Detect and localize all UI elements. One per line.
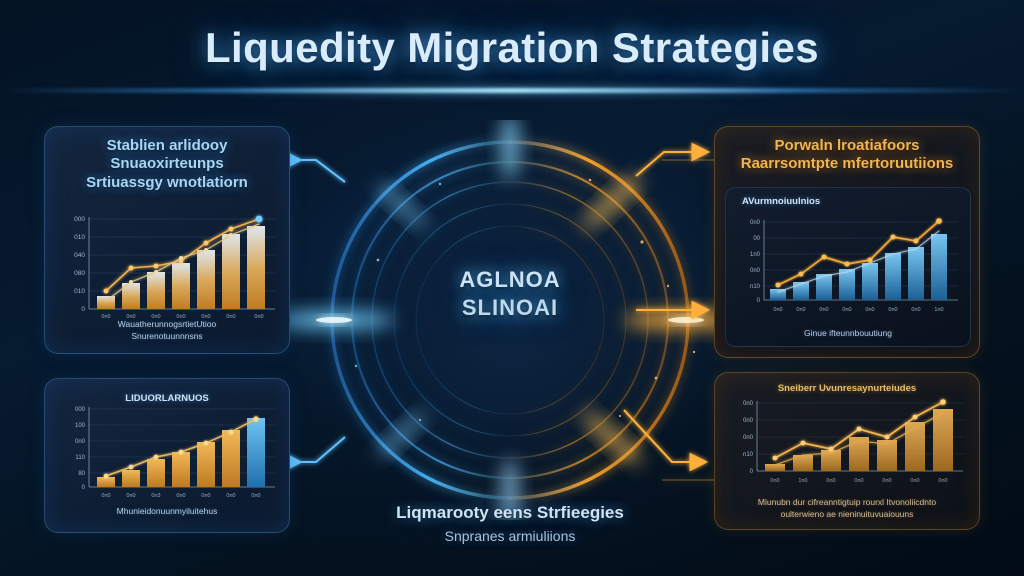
svg-text:0: 0	[81, 306, 85, 313]
svg-text:1n0: 1n0	[798, 478, 807, 484]
svg-text:0n0: 0n0	[854, 478, 863, 484]
left-top-chart[interactable]: 000010040 0800100	[53, 207, 283, 325]
svg-text:0n0: 0n0	[888, 307, 897, 313]
svg-text:0n0: 0n0	[911, 307, 920, 313]
svg-text:0n0: 0n0	[819, 307, 828, 313]
svg-text:0n0: 0n0	[201, 493, 210, 499]
svg-text:000: 000	[74, 216, 85, 223]
panel-right-top-heading-line1: Porwaln lroatiafoors	[715, 137, 979, 155]
svg-text:0n0: 0n0	[251, 493, 260, 499]
svg-text:0n0: 0n0	[826, 478, 835, 484]
panel-left-bottom-caption: Mhunieidonuunmyiluitehus	[45, 506, 289, 518]
svg-text:0n0: 0n0	[882, 478, 891, 484]
svg-text:0n0: 0n0	[750, 220, 761, 226]
svg-text:110: 110	[75, 455, 85, 461]
left-bottom-chart[interactable]: 0001000n0 110800 0n00n00	[55, 391, 283, 503]
panel-left-top-heading-line2: Snuaoxirteunps	[45, 155, 289, 173]
svg-text:040: 040	[74, 252, 85, 259]
panel-right-top-caption: Ginue ifteunnbouutiung	[726, 328, 970, 340]
svg-text:n10: n10	[743, 452, 754, 458]
panel-right-top-heading-line2: Raarrsomtpte mfertoruutiions	[715, 155, 979, 173]
svg-text:1n0: 1n0	[750, 252, 761, 258]
title-divider-glow	[0, 88, 1024, 93]
svg-text:0n0: 0n0	[101, 493, 110, 499]
panel-left-top-caption-line1: WauatherunnogsrtietUtioo	[45, 319, 289, 331]
svg-text:080: 080	[74, 270, 85, 277]
hub-label: AGLNOA SLINOAI	[290, 266, 730, 321]
svg-text:0n0: 0n0	[842, 307, 851, 313]
panel-right-top-heading: Porwaln lroatiafoors Raarrsomtpte mferto…	[715, 137, 979, 174]
svg-text:0: 0	[82, 485, 86, 491]
svg-text:00: 00	[753, 236, 760, 242]
svg-text:010: 010	[74, 288, 85, 295]
bottom-caption: Liqmarooty eens Strfieegies Snpranes arm…	[290, 500, 730, 547]
panel-left-top-heading-line3: Srtiuassgy wnotlatiorn	[45, 174, 289, 192]
right-bottom-chart[interactable]: 0n00n00n0 n100	[723, 389, 973, 493]
svg-text:0n0: 0n0	[796, 307, 805, 313]
panel-left-top-heading-line1: Stablien arlidooy	[45, 137, 289, 155]
right-top-chart[interactable]: 0n0001n0 0n0n100	[730, 206, 968, 318]
svg-text:0n0: 0n0	[910, 478, 919, 484]
svg-text:0n0: 0n0	[743, 401, 754, 407]
panel-right-bottom-caption-line2: oulterwieno ae nieninuituvuaiouuns	[715, 509, 979, 521]
panel-right-bottom[interactable]: Sneiberr Uvunresaynurteiudes 0n00n00n0 n…	[714, 372, 980, 530]
panel-left-top[interactable]: Stablien arlidooy Snuaoxirteunps Srtiuas…	[44, 126, 290, 354]
central-hub-graphic: AGLNOA SLINOAI	[290, 120, 730, 520]
page-title: Liquedity Migration Strategies	[0, 24, 1024, 72]
panel-left-top-caption: WauatherunnogsrtietUtioo Snurenotuunnnsn…	[45, 319, 289, 343]
bottom-caption-line1: Liqmarooty eens Strfieegies	[290, 500, 730, 526]
svg-text:0n0: 0n0	[176, 493, 185, 499]
svg-text:0n0: 0n0	[743, 418, 754, 424]
panel-right-bottom-caption: Miunubn dur cifreanntigtuip rourxl Itvon…	[715, 497, 979, 521]
panel-right-bottom-caption-line1: Miunubn dur cifreanntigtuip rourxl Itvon…	[715, 497, 979, 509]
svg-text:010: 010	[74, 234, 85, 241]
svg-text:0: 0	[750, 469, 754, 475]
bottom-caption-line2: Snpranes armiuliions	[290, 526, 730, 547]
svg-text:0n0: 0n0	[770, 478, 779, 484]
svg-text:n10: n10	[750, 284, 761, 290]
svg-text:0n0: 0n0	[126, 493, 135, 499]
svg-text:0n0: 0n0	[226, 493, 235, 499]
hub-label-line1: AGLNOA	[290, 266, 730, 294]
svg-text:0n0: 0n0	[75, 439, 86, 445]
hub-label-line2: SLINOAI	[290, 294, 730, 322]
panel-left-bottom[interactable]: LIDUORLARNUOS 0001000n0	[44, 378, 290, 533]
svg-text:1n0: 1n0	[934, 307, 943, 313]
panel-right-top[interactable]: Porwaln lroatiafoors Raarrsomtpte mferto…	[714, 126, 980, 358]
svg-text:0n0: 0n0	[743, 435, 754, 441]
panel-right-top-card[interactable]: AVurmnoiuulnios 0n000	[725, 187, 971, 347]
svg-text:000: 000	[75, 407, 86, 413]
svg-text:0n0: 0n0	[750, 268, 761, 274]
panel-left-top-caption-line2: Snurenotuunnnsns	[45, 331, 289, 343]
svg-text:100: 100	[75, 423, 86, 429]
panel-left-top-heading: Stablien arlidooy Snuaoxirteunps Srtiuas…	[45, 137, 289, 192]
svg-text:0n3: 0n3	[151, 493, 160, 499]
page-title-area: Liquedity Migration Strategies	[0, 24, 1024, 72]
svg-text:0n0: 0n0	[773, 307, 782, 313]
svg-text:80: 80	[78, 471, 85, 477]
svg-text:0n0: 0n0	[865, 307, 874, 313]
svg-text:0: 0	[757, 298, 761, 304]
slide-background: Liquedity Migration Strategies	[0, 0, 1024, 576]
svg-text:0n0: 0n0	[938, 478, 947, 484]
